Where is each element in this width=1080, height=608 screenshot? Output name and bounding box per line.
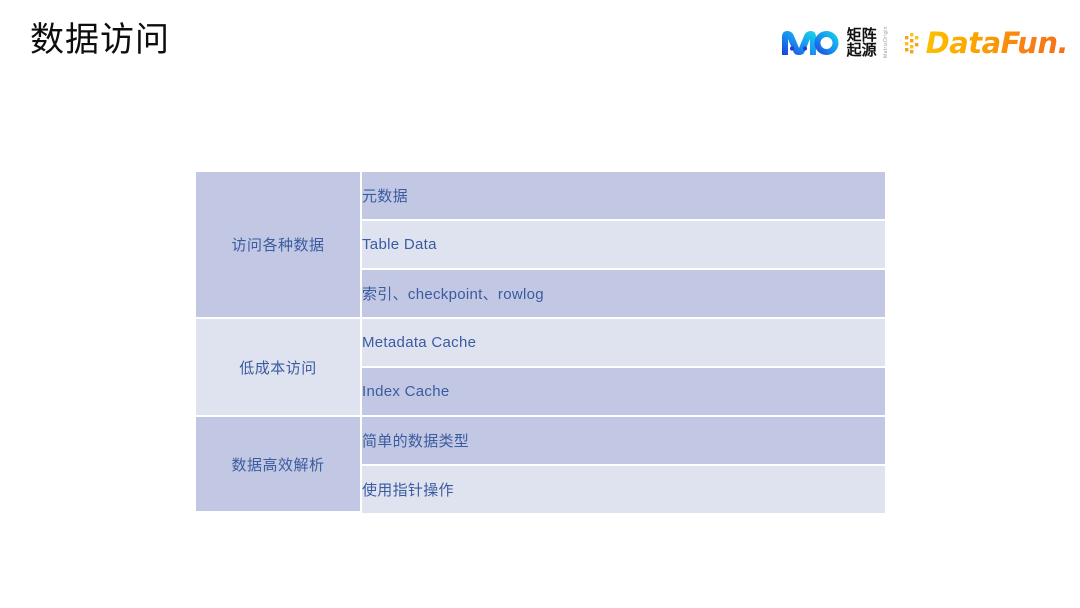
table-row: 低成本访问Metadata Cache (196, 319, 885, 368)
table-group-label: 数据高效解析 (196, 417, 362, 513)
slide-header: 数据访问 矩阵 起源 MatrixOri (0, 0, 1080, 85)
table-cell-item: Index Cache (362, 368, 885, 417)
table-group-label: 低成本访问 (196, 319, 362, 417)
table-group-label: 访问各种数据 (196, 172, 362, 319)
table-cell-item: 简单的数据类型 (362, 417, 885, 466)
data-access-table-body: 访问各种数据元数据Table Data索引、checkpoint、rowlog低… (196, 172, 885, 513)
table-cell-item: Metadata Cache (362, 319, 885, 368)
datafun-logo: DataFun. (904, 23, 1068, 63)
datafun-wordmark: DataFun. (926, 28, 1068, 58)
table-cell-item: Table Data (362, 221, 885, 270)
logo-bar: 矩阵 起源 MatrixOrigin DataFun. (779, 22, 1068, 64)
table-cell-item: 索引、checkpoint、rowlog (362, 270, 885, 319)
datafun-dots-icon (904, 30, 924, 56)
data-access-table: 访问各种数据元数据Table Data索引、checkpoint、rowlog低… (196, 172, 885, 513)
matrixorigin-wordmark-cn: 矩阵 起源 (847, 28, 877, 59)
table-cell-item: 元数据 (362, 172, 885, 221)
table-row: 数据高效解析简单的数据类型 (196, 417, 885, 466)
matrixorigin-logo: 矩阵 起源 MatrixOrigin (779, 23, 890, 63)
table-row: 访问各种数据元数据 (196, 172, 885, 221)
page-title: 数据访问 (30, 18, 170, 62)
matrixorigin-wordmark-line2: 起源 (847, 43, 877, 58)
matrixorigin-wordmark-line1: 矩阵 (847, 28, 877, 43)
mo-mark-icon (779, 28, 841, 58)
matrixorigin-wordmark-en: MatrixOrigin (883, 28, 890, 58)
table-cell-item: 使用指针操作 (362, 466, 885, 513)
